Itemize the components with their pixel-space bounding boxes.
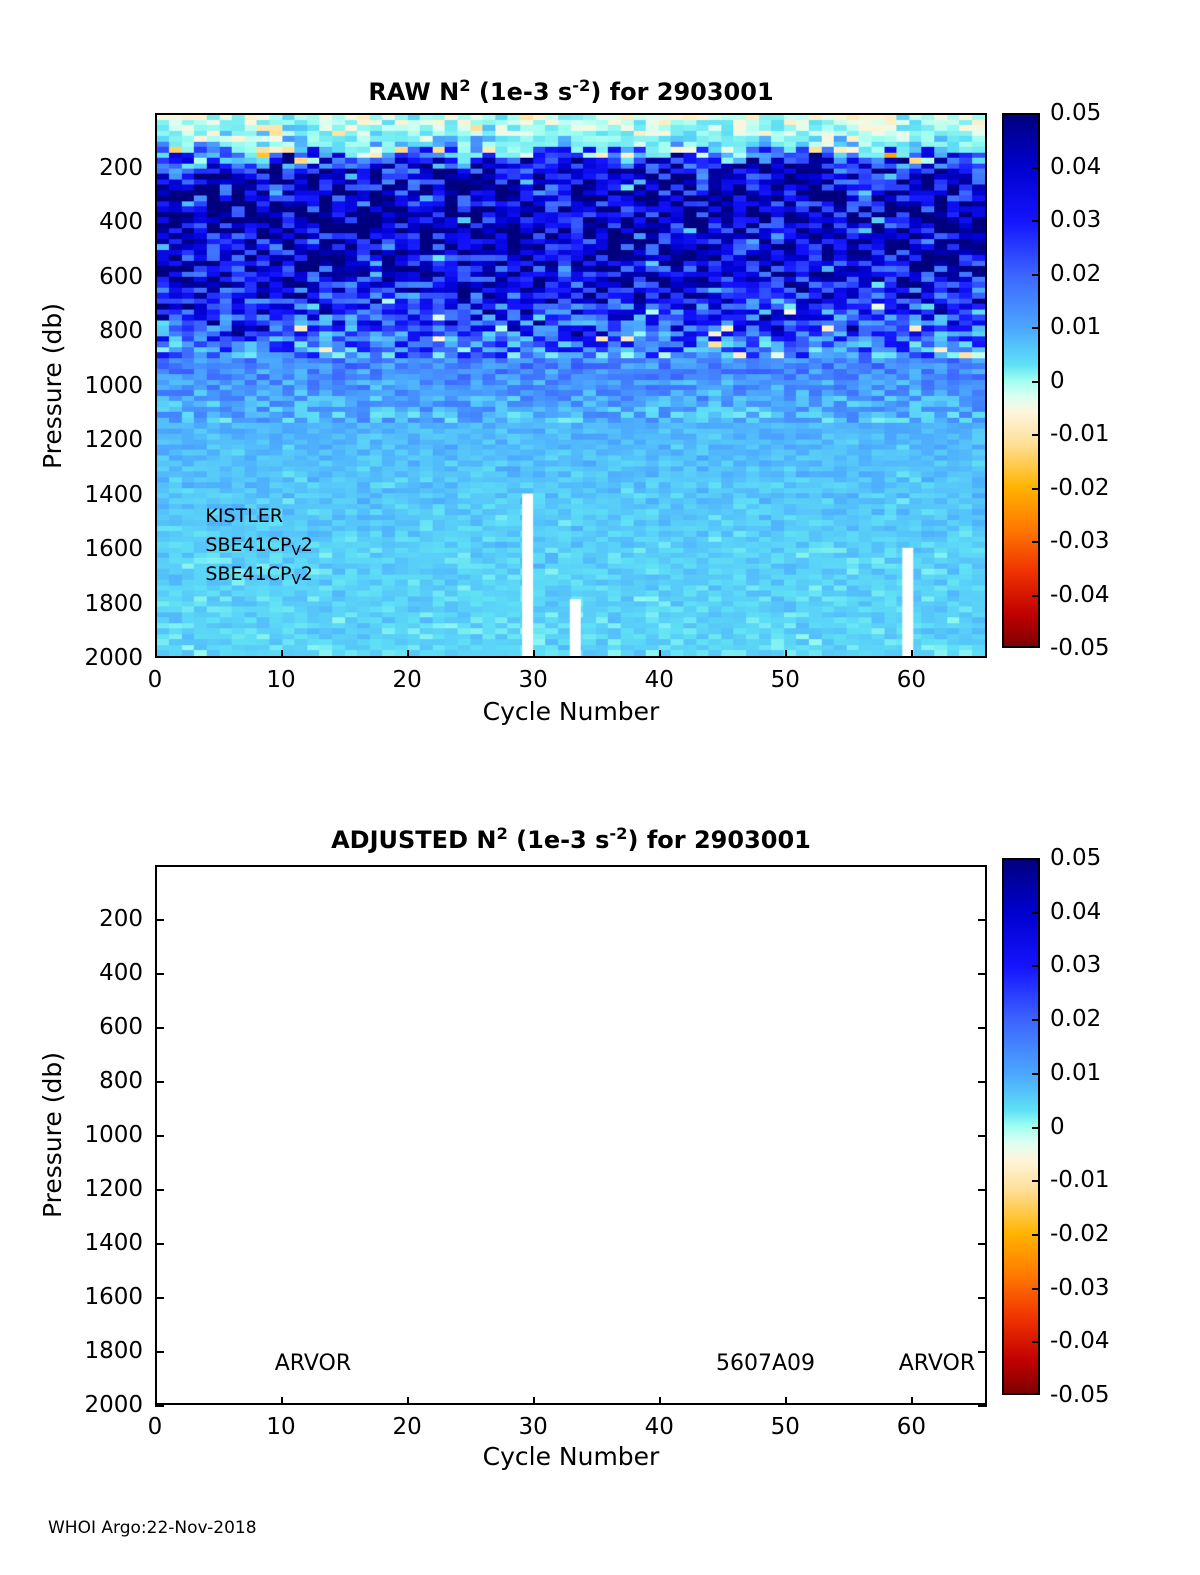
- colorbar-raw-tick-mark: [1032, 327, 1040, 329]
- colorbar-adjusted-tick-label: -0.01: [1050, 1167, 1110, 1193]
- raw-xtick-label: 60: [897, 667, 926, 693]
- adjusted-ytick-mark-right: [978, 1243, 987, 1245]
- adjusted-ytick-mark-right: [978, 919, 987, 921]
- colorbar-adjusted-tick-mark: [1032, 1288, 1040, 1290]
- adjusted-xtick-mark: [659, 1397, 661, 1405]
- annotation-subscript: V: [291, 543, 300, 559]
- title-text-suffix: ) for 2903001: [590, 78, 773, 106]
- colorbar-raw-tick-mark: [1032, 167, 1040, 169]
- adjusted-ytick-mark-right: [978, 1405, 987, 1407]
- colorbar-adjusted-tick-label: -0.04: [1050, 1328, 1110, 1354]
- raw-xtick-label: 50: [771, 667, 800, 693]
- raw-ytick-label: 200: [47, 155, 143, 181]
- title2-text-suffix: ) for 2903001: [628, 826, 811, 854]
- colorbar-adjusted-tick-label: 0.02: [1050, 1006, 1101, 1032]
- colorbar-raw-tick-mark: [1032, 220, 1040, 222]
- colorbar-adjusted-tick-label: 0.01: [1050, 1060, 1101, 1086]
- annotation-subscript: V: [291, 572, 300, 588]
- adjusted-xtick-label: 10: [266, 1414, 295, 1440]
- adjusted-xtick-mark: [785, 1397, 787, 1405]
- raw-xaxis-title: Cycle Number: [155, 697, 987, 726]
- colorbar-raw-tick-label: -0.03: [1050, 528, 1110, 554]
- raw-annotation: SBE41CPV2: [205, 534, 312, 556]
- adjusted-xtick-label: 60: [897, 1414, 926, 1440]
- raw-xtick-mark: [533, 650, 535, 658]
- colorbar-raw-tick-label: 0.04: [1050, 154, 1101, 180]
- title2-superscript-minus2: -2: [609, 824, 627, 843]
- adjusted-ytick-mark-right: [978, 1297, 987, 1299]
- colorbar-adjusted-tick-mark: [1032, 1019, 1040, 1021]
- colorbar-adjusted-tick-mark: [1032, 1073, 1040, 1075]
- colorbar-adjusted-tick-label: 0.03: [1050, 952, 1101, 978]
- colorbar-adjusted-tick-mark: [1032, 965, 1040, 967]
- colorbar-raw-tick-label: -0.05: [1050, 635, 1110, 661]
- adjusted-xaxis-title: Cycle Number: [155, 1442, 987, 1471]
- adjusted-ytick-mark: [155, 973, 164, 975]
- raw-xtick-mark: [281, 650, 283, 658]
- adjusted-ytick-mark: [155, 1135, 164, 1137]
- raw-ytick-label: 1800: [47, 591, 143, 617]
- colorbar-adjusted-tick-mark: [1032, 1341, 1040, 1343]
- adjusted-ytick-label: 200: [47, 906, 143, 932]
- adjusted-ytick-label: 1800: [47, 1338, 143, 1364]
- colorbar-raw-tick-mark: [1032, 434, 1040, 436]
- colorbar-adjusted-tick-label: -0.03: [1050, 1275, 1110, 1301]
- colorbar-adjusted-tick-mark: [1032, 1234, 1040, 1236]
- adjusted-annotation: ARVOR: [275, 1351, 351, 1376]
- raw-xtick-label: 30: [519, 667, 548, 693]
- colorbar-raw-tick-mark: [1032, 541, 1040, 543]
- adjusted-ytick-mark: [155, 1081, 164, 1083]
- title2-superscript-2: 2: [496, 824, 507, 843]
- adjusted-xtick-label: 40: [645, 1414, 674, 1440]
- colorbar-raw-tick-label: -0.01: [1050, 421, 1110, 447]
- title2-text-mid: (1e-3 s: [508, 826, 610, 854]
- colorbar-adjusted-tick-label: 0.04: [1050, 899, 1101, 925]
- annotation-text: SBE41CP: [205, 563, 291, 585]
- colorbar-raw-tick-label: -0.02: [1050, 475, 1110, 501]
- adjusted-ytick-mark-right: [978, 1189, 987, 1191]
- adjusted-ytick-mark: [155, 1243, 164, 1245]
- adjusted-axes-frame: [155, 865, 987, 1405]
- annotation-suffix: 2: [301, 563, 313, 585]
- colorbar-adjusted-tick-label: -0.02: [1050, 1221, 1110, 1247]
- annotation-text: SBE41CP: [205, 534, 291, 556]
- colorbar-raw-tick-label: 0: [1050, 368, 1065, 394]
- adjusted-ytick-mark-right: [978, 973, 987, 975]
- colorbar-raw-tick-label: -0.04: [1050, 582, 1110, 608]
- raw-ytick-label: 2000: [47, 645, 143, 671]
- annotation-suffix: 2: [301, 534, 313, 556]
- raw-annotation: KISTLER: [205, 505, 283, 527]
- raw-xtick-mark: [659, 650, 661, 658]
- adjusted-ytick-mark: [155, 1189, 164, 1191]
- colorbar-raw-tick-label: 0.01: [1050, 314, 1101, 340]
- raw-annotation: SBE41CPV2: [205, 563, 312, 585]
- adjusted-ytick-mark: [155, 1297, 164, 1299]
- panel-raw-title: RAW N2 (1e-3 s-2) for 2903001: [155, 78, 987, 106]
- colorbar-adjusted-tick-mark: [1032, 912, 1040, 914]
- adjusted-ytick-label: 2000: [47, 1392, 143, 1418]
- colorbar-raw-tick-label: 0.03: [1050, 207, 1101, 233]
- raw-xtick-label: 10: [266, 667, 295, 693]
- title-superscript-minus2: -2: [572, 76, 590, 95]
- adjusted-annotation: 5607A09: [716, 1351, 815, 1376]
- adjusted-xtick-label: 30: [519, 1414, 548, 1440]
- adjusted-xtick-mark: [281, 1397, 283, 1405]
- raw-xtick-mark: [155, 650, 157, 658]
- title-text-mid: (1e-3 s: [471, 78, 573, 106]
- title2-text-prefix: ADJUSTED N: [331, 826, 496, 854]
- colorbar-raw-tick-label: 0.05: [1050, 100, 1101, 126]
- raw-xtick-label: 40: [645, 667, 674, 693]
- title-superscript-2: 2: [459, 76, 470, 95]
- colorbar-adjusted-tick-mark: [1032, 1180, 1040, 1182]
- raw-xtick-label: 20: [392, 667, 421, 693]
- colorbar-raw-tick-label: 0.02: [1050, 261, 1101, 287]
- adjusted-xtick-label: 50: [771, 1414, 800, 1440]
- adjusted-ytick-mark-right: [978, 1081, 987, 1083]
- adjusted-xtick-label: 0: [148, 1414, 163, 1440]
- adjusted-yaxis-title: Pressure (db): [38, 975, 68, 1295]
- title-text-prefix: RAW N: [368, 78, 459, 106]
- adjusted-ytick-mark: [155, 1027, 164, 1029]
- colorbar-raw-tick-mark: [1032, 274, 1040, 276]
- colorbar-adjusted-tick-label: 0.05: [1050, 845, 1101, 871]
- raw-yaxis-title: Pressure (db): [38, 226, 68, 546]
- colorbar-raw-tick-mark: [1032, 488, 1040, 490]
- raw-xtick-mark: [407, 650, 409, 658]
- adjusted-xtick-mark: [911, 1397, 913, 1405]
- adjusted-annotation: ARVOR: [899, 1351, 975, 1376]
- adjusted-ytick-mark-right: [978, 1351, 987, 1353]
- adjusted-ytick-mark-right: [978, 1027, 987, 1029]
- adjusted-xtick-label: 20: [392, 1414, 421, 1440]
- raw-xtick-mark: [911, 650, 913, 658]
- adjusted-ytick-mark: [155, 919, 164, 921]
- colorbar-raw-tick-mark: [1032, 595, 1040, 597]
- colorbar-raw-tick-mark: [1032, 381, 1040, 383]
- colorbar-adjusted-tick-mark: [1032, 1127, 1040, 1129]
- panel-adjusted-title: ADJUSTED N2 (1e-3 s-2) for 2903001: [155, 826, 987, 854]
- colorbar-adjusted-tick-label: -0.05: [1050, 1382, 1110, 1408]
- adjusted-xtick-mark: [155, 1397, 157, 1405]
- adjusted-ytick-mark-right: [978, 1135, 987, 1137]
- adjusted-ytick-mark: [155, 1405, 164, 1407]
- raw-xtick-label: 0: [148, 667, 163, 693]
- adjusted-ytick-mark: [155, 1351, 164, 1353]
- colorbar-adjusted-tick-label: 0: [1050, 1114, 1065, 1140]
- figure-footer: WHOI Argo:22-Nov-2018: [48, 1518, 257, 1538]
- adjusted-xtick-mark: [407, 1397, 409, 1405]
- adjusted-xtick-mark: [533, 1397, 535, 1405]
- raw-xtick-mark: [785, 650, 787, 658]
